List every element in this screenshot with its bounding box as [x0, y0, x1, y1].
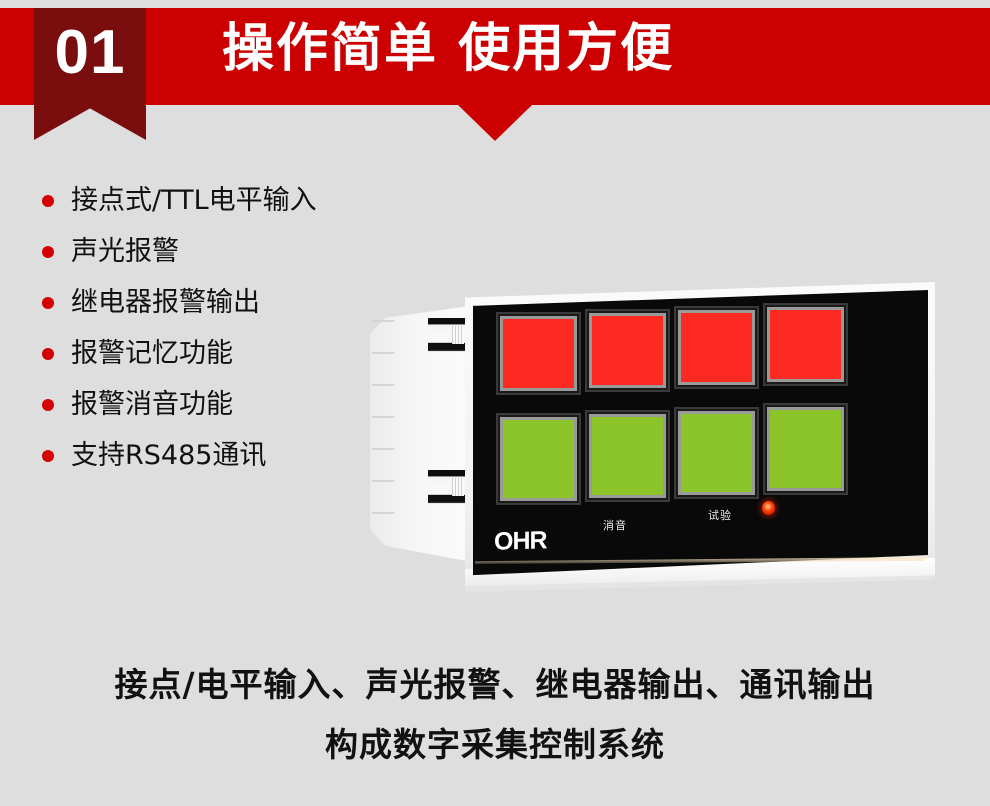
- lamp-lens-red: [500, 316, 577, 391]
- alarm-window-red-2[interactable]: [585, 309, 670, 392]
- mute-button-label[interactable]: 消音: [603, 517, 627, 533]
- step-ribbon: 01: [34, 8, 146, 140]
- alarm-window-red-3[interactable]: [674, 306, 759, 389]
- lamp-lens-red: [589, 313, 666, 388]
- alarm-window-green-3[interactable]: [674, 407, 759, 499]
- alarm-window-red-4[interactable]: [763, 303, 848, 386]
- housing-ridge: [372, 384, 394, 386]
- feature-label: 报警记忆功能: [71, 338, 233, 369]
- bullet-icon: [42, 297, 54, 309]
- bullet-icon: [42, 399, 54, 411]
- bottom-caption: 接点/电平输入、声光报警、继电器输出、通讯输出 构成数字采集控制系统: [0, 655, 990, 775]
- alarm-window-green-4[interactable]: [763, 403, 848, 495]
- housing-ridge: [372, 448, 394, 450]
- step-number: 01: [34, 22, 146, 84]
- list-item: 接点式/TTL电平输入: [38, 184, 438, 218]
- housing-ridge: [372, 416, 394, 418]
- feature-label: 支持RS485通讯: [71, 440, 266, 471]
- bullet-icon: [42, 246, 54, 258]
- bullet-icon: [42, 348, 54, 360]
- caption-line-1: 接点/电平输入、声光报警、继电器输出、通讯输出: [0, 655, 990, 715]
- bullet-icon: [42, 450, 54, 462]
- caption-line-2: 构成数字采集控制系统: [0, 715, 990, 775]
- lamp-lens-green: [500, 417, 577, 501]
- lamp-lens-green: [589, 414, 666, 498]
- alarm-window-green-2[interactable]: [585, 410, 670, 502]
- lamp-lens-red: [678, 310, 755, 385]
- mounting-clip: [428, 318, 466, 352]
- clip-ridges-icon: [452, 326, 464, 344]
- mounting-clip: [428, 470, 466, 504]
- brand-logo: OHR: [494, 526, 547, 556]
- housing-ridge: [372, 352, 394, 354]
- lamp-lens-green: [767, 407, 844, 491]
- header-notch-arrow: [458, 105, 532, 141]
- alarm-window-red-1[interactable]: [496, 312, 581, 395]
- housing-ridge: [372, 320, 394, 322]
- housing-ridge: [372, 512, 394, 514]
- lamp-lens-red: [767, 307, 844, 382]
- test-button-label[interactable]: 试验: [708, 507, 732, 523]
- list-item: 声光报警: [38, 235, 438, 269]
- clip-ridges-icon: [452, 478, 464, 496]
- device-photo: 消音 试验 OHR: [370, 280, 990, 600]
- feature-label: 声光报警: [71, 236, 179, 267]
- feature-label: 继电器报警输出: [71, 287, 260, 318]
- housing-ridge: [372, 480, 394, 482]
- feature-label: 接点式/TTL电平输入: [71, 185, 317, 216]
- alarm-window-green-1[interactable]: [496, 413, 581, 505]
- lamp-lens-green: [678, 411, 755, 495]
- bullet-icon: [42, 195, 54, 207]
- status-led-icon: [762, 501, 775, 515]
- page-title: 操作简单 使用方便: [222, 18, 674, 80]
- feature-label: 报警消音功能: [71, 389, 233, 420]
